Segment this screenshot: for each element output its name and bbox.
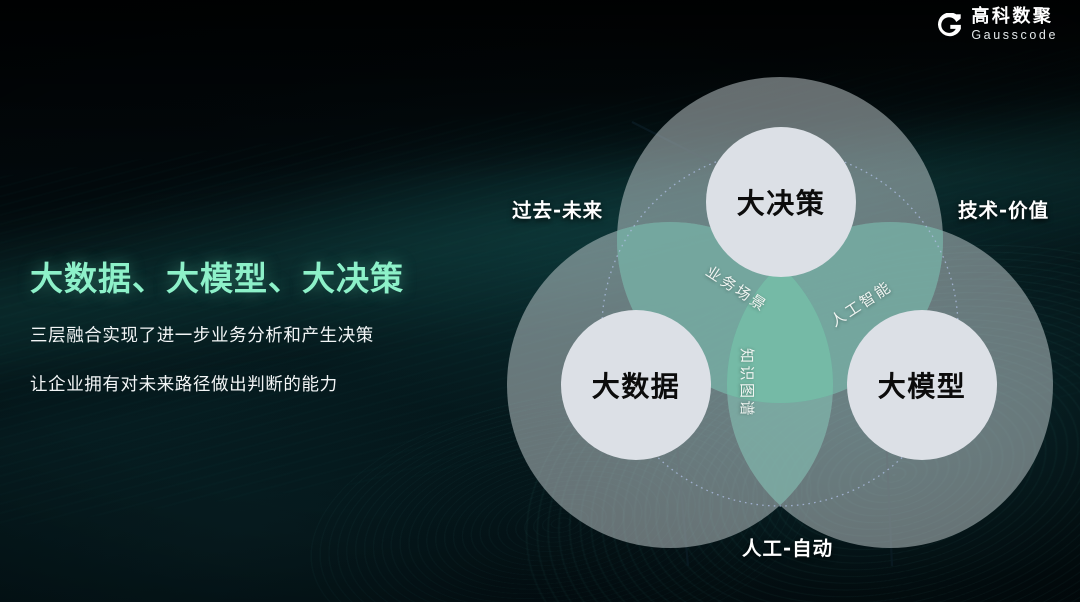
venn-diagram: 大决策 大数据 大模型 业务场景 人工智能 知识图谱	[490, 10, 1070, 590]
venn-inner-circle-left	[561, 310, 711, 460]
axis-label-left: 过去-未来	[512, 194, 603, 223]
subtitle-line-2: 让企业拥有对未来路径做出判断的能力	[30, 371, 404, 396]
gausscode-mark-icon	[936, 13, 962, 39]
brand-name-cn: 高科数聚	[971, 8, 1058, 26]
axis-label-bottom: 人工-自动	[742, 532, 833, 561]
venn-inner-circle-top	[706, 127, 856, 277]
subtitle-line-1: 三层融合实现了进一步业务分析和产生决策	[30, 322, 404, 347]
venn-inner-circle-right	[847, 310, 997, 460]
headline-block: 大数据、大模型、大决策 三层融合实现了进一步业务分析和产生决策 让企业拥有对未来…	[30, 252, 404, 396]
venn-shapes	[490, 10, 1070, 590]
axis-label-right: 技术-价值	[958, 194, 1049, 223]
page-title: 大数据、大模型、大决策	[30, 252, 404, 300]
brand-wordmark: 高科数聚 Gausscode	[971, 8, 1058, 42]
slide-canvas: 高科数聚 Gausscode 大数据、大模型、大决策 三层融合实现了进一步业务分…	[0, 0, 1080, 602]
brand-name-en: Gausscode	[971, 29, 1058, 42]
brand-logo: 高科数聚 Gausscode	[936, 8, 1058, 42]
